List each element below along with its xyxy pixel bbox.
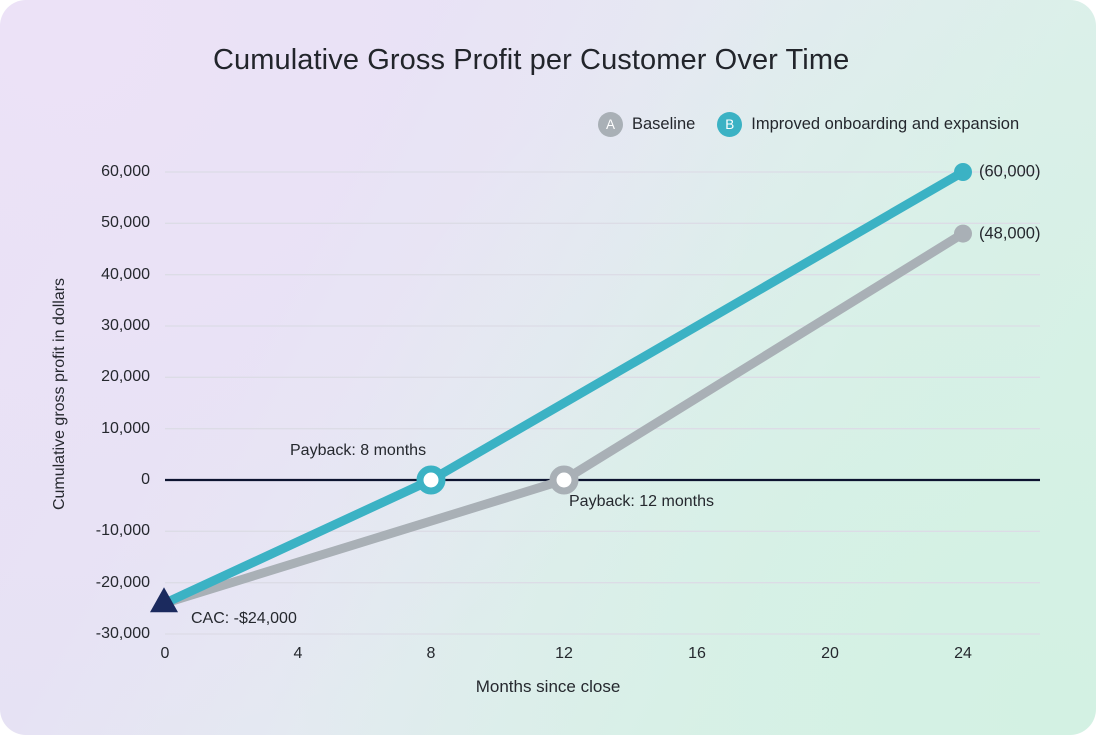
chart-page: Cumulative Gross Profit per Customer Ove… (0, 0, 1096, 735)
y-axis-tick: 20,000 (30, 368, 150, 386)
y-axis-tick: -30,000 (30, 625, 150, 643)
annotation-payback-b: Payback: 8 months (290, 442, 426, 460)
y-axis-tick: 60,000 (30, 163, 150, 181)
y-axis-tick: 0 (30, 471, 150, 489)
x-axis-tick: 0 (125, 645, 205, 663)
plot-area: 60,00050,00040,00030,00020,00010,0000-10… (0, 0, 1096, 735)
chart-card: Cumulative Gross Profit per Customer Ove… (0, 0, 1096, 735)
x-axis-tick: 4 (258, 645, 338, 663)
y-axis-tick: 30,000 (30, 317, 150, 335)
x-axis-tick: 16 (657, 645, 737, 663)
annotation-payback-a: Payback: 12 months (569, 493, 714, 511)
y-axis-tick: -20,000 (30, 574, 150, 592)
x-axis-tick: 20 (790, 645, 870, 663)
y-axis-tick: 50,000 (30, 214, 150, 232)
y-axis-title: Cumulative gross profit in dollars (51, 244, 69, 544)
x-axis-tick: 8 (391, 645, 471, 663)
annotation-cac: CAC: -$24,000 (191, 610, 297, 628)
plot-svg (0, 0, 1096, 735)
x-axis-tick: 12 (524, 645, 604, 663)
y-axis-tick: 40,000 (30, 266, 150, 284)
y-axis-tick: -10,000 (30, 522, 150, 540)
x-axis-tick: 24 (923, 645, 1003, 663)
endpoint-label-improved: (60,000) (979, 163, 1040, 182)
y-axis-tick: 10,000 (30, 420, 150, 438)
endpoint-label-baseline: (48,000) (979, 224, 1040, 243)
x-axis-title: Months since close (0, 677, 1096, 697)
